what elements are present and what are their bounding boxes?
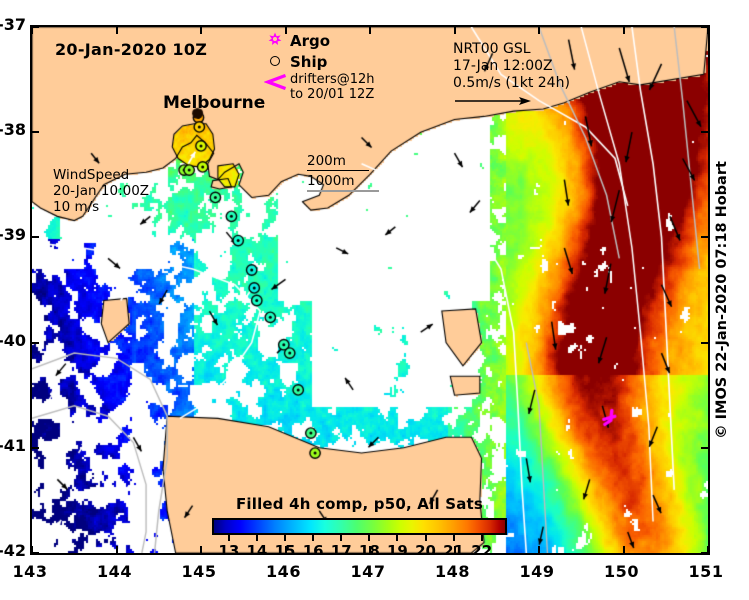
y-tick (32, 236, 39, 238)
x-axis-tick-label: 151 (689, 562, 724, 581)
y-axis-tick-label: -37 (0, 15, 26, 34)
y-tick (701, 342, 708, 344)
sst-map-figure: 20-Jan-2020 10Z Argo Ship (0, 0, 749, 600)
argo-marker-icon (260, 31, 290, 51)
colorbar-tick (453, 535, 455, 541)
colorbar-title: Filled 4h comp, p50, All Sats (212, 495, 507, 513)
x-tick (707, 27, 709, 34)
x-axis-tick-label: 143 (13, 562, 48, 581)
velocity-scale-arrow-icon (453, 94, 543, 108)
y-tick (701, 131, 708, 133)
y-axis-tick-label: -39 (0, 225, 26, 244)
depth-line-1000m (307, 190, 379, 192)
x-tick (200, 546, 202, 553)
depth-key-200m: 200m (307, 153, 346, 169)
x-tick (623, 27, 625, 34)
colorbar-tick (368, 535, 370, 541)
y-tick (701, 552, 708, 554)
colorbar-tick (396, 535, 398, 541)
colorbar-tick-label: 14 (247, 542, 268, 555)
y-tick (32, 131, 39, 133)
x-axis-tick-label: 150 (604, 562, 639, 581)
colorbar-tick (340, 535, 342, 541)
x-tick (538, 546, 540, 553)
current-key-line2: 17-Jan 12:00Z (453, 58, 553, 74)
colorbar-tick (284, 535, 286, 541)
current-key-line3: 0.5m/s (1kt 24h) (453, 75, 570, 91)
map-plot-area[interactable]: 20-Jan-2020 10Z Argo Ship (30, 25, 710, 555)
x-axis-tick-label: 145 (182, 562, 217, 581)
y-tick (32, 447, 39, 449)
colorbar-tick-label: 19 (387, 542, 408, 555)
legend-row-drifters: drifters@12h to 20/01 12Z (260, 72, 375, 104)
x-tick (454, 27, 456, 34)
y-axis-tick-label: -40 (0, 331, 26, 350)
y-tick (32, 342, 39, 344)
y-axis-tick-label: -38 (0, 120, 26, 139)
legend-row-argo: Argo (260, 30, 375, 51)
legend-drifters-line2: to 20/01 12Z (290, 87, 374, 102)
colorbar-gradient (212, 518, 507, 535)
colorbar-tick (425, 535, 427, 541)
colorbar-tick (256, 535, 258, 541)
colorbar-tick-label: 21 (443, 542, 464, 555)
y-tick (701, 447, 708, 449)
legend-label-ship: Ship (290, 53, 327, 71)
colorbar-tick-labels: 13141516171819202122 (212, 542, 507, 555)
legend-drifters-line1: drifters@12h (290, 72, 375, 87)
y-tick (32, 552, 39, 554)
x-tick (200, 27, 202, 34)
current-key-line1: NRT00 GSL (453, 41, 531, 57)
depth-contour-key: 200m 1000m (307, 153, 379, 194)
copyright-credit: © IMOS 22-Jan-2020 07:18 Hobart (714, 161, 730, 439)
city-label-melbourne: Melbourne (163, 93, 265, 113)
x-tick (623, 546, 625, 553)
wind-key-line1: WindSpeed (53, 167, 129, 183)
x-axis-tick-label: 147 (351, 562, 386, 581)
colorbar-tick-label: 18 (359, 542, 380, 555)
colorbar-tick-label: 20 (415, 542, 436, 555)
current-vector-key: NRT00 GSL 17-Jan 12:00Z 0.5m/s (1kt 24h) (453, 41, 570, 108)
date-stamp: 20-Jan-2020 10Z (55, 40, 207, 59)
colorbar-tick (481, 535, 483, 541)
legend-row-ship: Ship (260, 51, 375, 72)
legend-drifters-text: drifters@12h to 20/01 12Z (290, 72, 375, 102)
legend-label-argo: Argo (290, 32, 330, 50)
colorbar-tick (228, 535, 230, 541)
y-axis-tick-label: -41 (0, 436, 26, 455)
colorbar-ticks (212, 535, 507, 542)
x-axis-tick-label: 146 (266, 562, 301, 581)
colorbar-tick-label: 15 (275, 542, 296, 555)
wind-speed-key: WindSpeed 20-Jan 10:00Z 10 m/s (53, 167, 149, 215)
x-tick (538, 27, 540, 34)
wind-key-line2: 20-Jan 10:00Z (53, 183, 149, 199)
colorbar-tick-label: 22 (471, 542, 492, 555)
colorbar-tick-label: 16 (303, 542, 324, 555)
x-tick (116, 546, 118, 553)
y-axis-tick-label: -42 (0, 541, 26, 560)
ship-marker-icon (260, 54, 290, 70)
y-tick (32, 26, 39, 28)
marker-legend: Argo Ship drifters@12h to 20/01 12Z (260, 30, 375, 104)
colorbar-tick-label: 17 (331, 542, 352, 555)
x-axis-tick-label: 148 (435, 562, 470, 581)
wind-key-line3: 10 m/s (53, 199, 99, 215)
drifter-track-arrow-icon (260, 72, 290, 94)
x-tick (116, 27, 118, 34)
x-axis-tick-label: 149 (520, 562, 555, 581)
colorbar-tick (312, 535, 314, 541)
sst-field-canvas (32, 27, 708, 553)
colorbar: Filled 4h comp, p50, All Sats 1314151617… (212, 495, 507, 555)
y-tick (701, 26, 708, 28)
x-axis-tick-label: 144 (97, 562, 132, 581)
y-tick (701, 236, 708, 238)
depth-key-1000m: 1000m (307, 173, 355, 189)
depth-line-200m (307, 170, 369, 171)
colorbar-tick-label: 13 (218, 542, 239, 555)
x-tick (31, 27, 33, 34)
